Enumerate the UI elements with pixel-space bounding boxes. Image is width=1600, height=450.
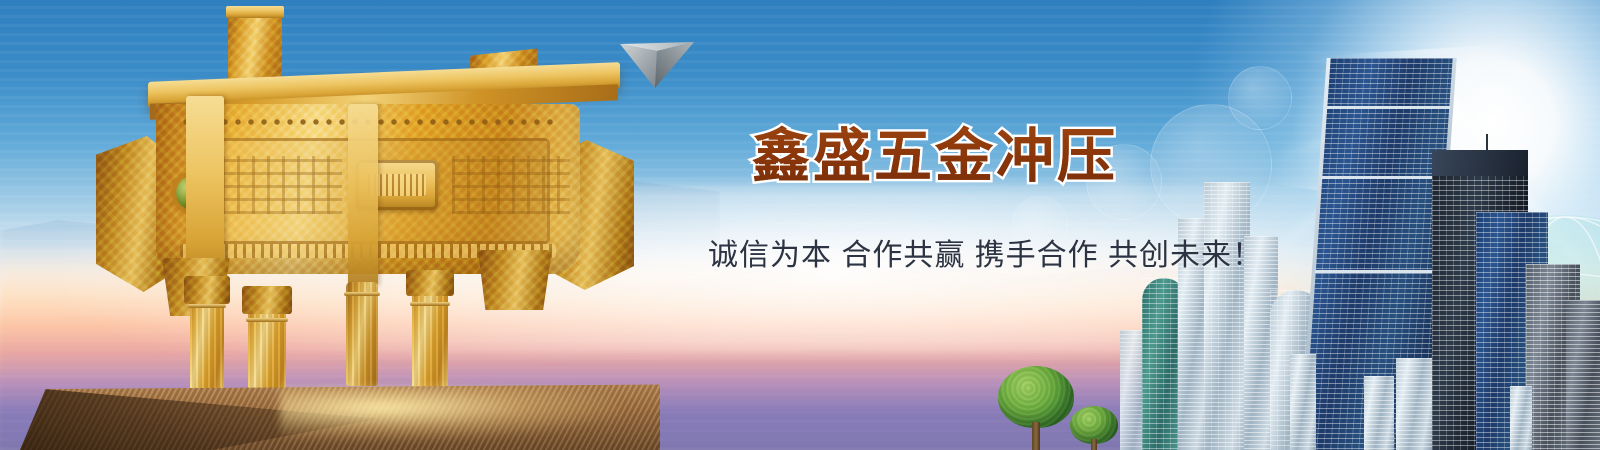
page-subtitle: 诚信为本 合作共赢 携手合作 共创未来！ [708,230,1263,274]
ding-leg-3 [346,282,378,386]
building [1510,386,1532,450]
ding-corner-rib-center [348,104,378,286]
golden-ding-vessel [60,0,660,450]
building [1364,376,1394,450]
tree-large [998,366,1074,450]
hero-banner: 鑫盛五金冲压 鑫盛五金冲压 诚信为本 合作共赢 携手合作 共创未来！ [0,0,1600,450]
building [1396,358,1432,450]
building [1566,300,1600,450]
city-skyline [1120,0,1600,450]
ding-bracket-right [478,250,552,310]
building [1290,354,1316,450]
plinth-glow [280,386,620,440]
tree-small [1070,406,1118,450]
page-title: 鑫盛五金冲压 [752,128,1118,186]
